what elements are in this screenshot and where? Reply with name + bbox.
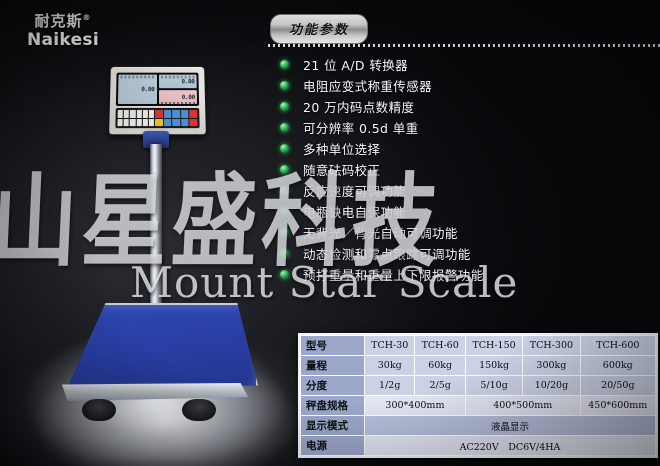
keypad-key-red[interactable] [190, 110, 198, 118]
trademark-symbol: ® [82, 13, 91, 22]
list-item: 反应速度可调功能 [280, 180, 660, 201]
lcd-value-total-price: 0.00 [182, 94, 195, 101]
keypad-key[interactable] [136, 119, 141, 127]
row-label-division: 分度 [301, 376, 365, 396]
lcd-value-weight: 0.00 [141, 86, 154, 93]
cell-model-2: TCH-60 [415, 336, 465, 356]
bullet-dot-icon [280, 228, 289, 237]
keypad-key-red[interactable] [190, 119, 198, 127]
indicator-display-panel: 0.00 0.00 0.00 [116, 73, 199, 106]
keypad-key[interactable] [149, 119, 154, 127]
feature-label: 多种单位选择 [303, 139, 380, 158]
platform-foot-left [82, 399, 116, 421]
feature-label: 21 位 A/D 转换器 [303, 55, 408, 74]
cell-capacity-4: 300kg [523, 356, 580, 376]
row-label-display-mode: 显示模式 [301, 416, 365, 436]
scale-product-image: 0.00 0.00 0.00 [0, 0, 300, 466]
brand-name-en: Naikesi [27, 32, 99, 49]
bullet-dot-icon [280, 165, 289, 174]
lcd-window-unit-price: 0.00 [158, 75, 196, 89]
cell-capacity-2: 60kg [415, 356, 465, 376]
row-label-capacity: 量程 [301, 356, 365, 376]
cell-division-4: 10/20g [523, 376, 580, 396]
bullet-dot-icon [280, 102, 289, 111]
lcd-window-weight: 0.00 [118, 75, 157, 104]
list-item: 无背光／背光自动可调功能 [280, 222, 660, 243]
keypad-key-blue[interactable] [181, 119, 189, 127]
keypad-key[interactable] [117, 119, 122, 127]
indicator-keypad[interactable] [115, 108, 199, 128]
keypad-key-blue[interactable] [181, 110, 189, 118]
cell-model-4: TCH-300 [523, 336, 580, 356]
keypad-key[interactable] [136, 110, 141, 118]
feature-label: 反应速度可调功能 [303, 181, 406, 200]
feature-label: 电阻应变式称重传感器 [303, 76, 432, 95]
bullet-dot-icon [280, 270, 289, 279]
cell-division-1: 1/2g [365, 376, 415, 396]
brand-name-cn-text: 耐克斯 [34, 12, 82, 30]
keypad-key-blue[interactable] [172, 110, 180, 118]
platform-foot-right [182, 399, 216, 421]
feature-label: 动态检测和零点跟踪可调功能 [303, 244, 471, 263]
cell-display-mode: 液晶显示 [365, 416, 656, 436]
row-label-power: 电源 [301, 436, 365, 456]
brand-logo: 耐克斯® Naikesi [27, 14, 99, 49]
table-row: 秤盘规格 300*400mm 400*500mm 450*600mm [301, 396, 656, 416]
lcd-tick-marks [120, 76, 154, 79]
bullet-dot-icon [280, 207, 289, 216]
list-item: 电瓶缺电自保功能 [280, 201, 660, 222]
keypad-key[interactable] [130, 110, 135, 118]
lcd-value-unit-price: 0.00 [181, 78, 194, 85]
keypad-key[interactable] [124, 119, 129, 127]
lcd-column-right: 0.00 0.00 [158, 75, 197, 104]
list-item: 21 位 A/D 转换器 [280, 54, 660, 75]
cell-model-3: TCH-150 [465, 336, 522, 356]
list-item: 20 万内码点数精度 [280, 96, 660, 117]
bullet-dot-icon [280, 186, 289, 195]
keypad-key[interactable] [143, 110, 148, 118]
feature-label: 20 万内码点数精度 [303, 97, 414, 116]
keypad-key-blue[interactable] [164, 110, 172, 118]
keypad-key-red[interactable] [155, 110, 163, 118]
row-label-pan-size: 秤盘规格 [301, 396, 365, 416]
scale-indicator-head: 0.00 0.00 0.00 [109, 67, 206, 134]
keypad-key-yellow[interactable] [155, 119, 163, 127]
keypad-key-blue[interactable] [164, 119, 172, 127]
list-item: 可分辨率 0.5d 单重 [280, 117, 660, 138]
bullet-dot-icon [280, 249, 289, 258]
keypad-key-blue[interactable] [173, 119, 181, 127]
keypad-key[interactable] [130, 119, 135, 127]
keypad-key[interactable] [118, 110, 123, 118]
bullet-dot-icon [280, 81, 289, 90]
platform-side-edge [62, 383, 248, 401]
scale-support-pole [150, 144, 162, 312]
cell-division-5: 20/50g [580, 376, 655, 396]
cell-pan-size-1: 300*400mm [365, 396, 466, 416]
lcd-tick-marks [160, 76, 194, 79]
specification-table: 型号 TCH-30 TCH-60 TCH-150 TCH-300 TCH-600… [300, 335, 656, 456]
bullet-dot-icon [280, 123, 289, 132]
table-row: 量程 30kg 60kg 150kg 300kg 600kg [301, 356, 656, 376]
feature-label: 随意砝码校正 [303, 160, 380, 179]
list-item: 预打重量和重量上下限报警功能 [280, 264, 660, 285]
lcd-window-total-price: 0.00 [158, 90, 197, 104]
table-row: 显示模式 液晶显示 [301, 416, 656, 436]
brand-name-cn: 耐克斯® [27, 14, 99, 29]
specification-panel: 功能参数 21 位 A/D 转换器 电阻应变式称重传感器 20 万内码点数精度 … [268, 0, 660, 466]
list-item: 电阻应变式称重传感器 [280, 75, 660, 96]
section-title-badge: 功能参数 [270, 14, 368, 44]
cell-division-3: 5/10g [465, 376, 522, 396]
dotted-divider [268, 44, 660, 47]
list-item: 动态检测和零点跟踪可调功能 [280, 243, 660, 264]
cell-pan-size-2: 400*500mm [465, 396, 580, 416]
table-row: 型号 TCH-30 TCH-60 TCH-150 TCH-300 TCH-600 [301, 336, 656, 356]
table-row: 分度 1/2g 2/5g 5/10g 10/20g 20/50g [301, 376, 656, 396]
feature-list: 21 位 A/D 转换器 电阻应变式称重传感器 20 万内码点数精度 可分辨率 … [280, 54, 660, 285]
cell-division-2: 2/5g [415, 376, 465, 396]
bullet-dot-icon [280, 60, 289, 69]
cell-power: AC220V DC6V/4HA [365, 436, 656, 456]
keypad-key[interactable] [149, 110, 154, 118]
lcd-segment-bar [161, 102, 196, 104]
feature-label: 预打重量和重量上下限报警功能 [303, 265, 484, 284]
product-poster: 耐克斯® Naikesi 0.00 0.00 0.00 [0, 0, 660, 466]
feature-label: 无背光／背光自动可调功能 [303, 223, 458, 242]
platform-top-plate [52, 303, 258, 389]
list-item: 多种单位选择 [280, 138, 660, 159]
keypad-key[interactable] [124, 110, 129, 118]
table-row: 电源 AC220V DC6V/4HA [301, 436, 656, 456]
feature-label: 电瓶缺电自保功能 [303, 202, 406, 221]
specification-table-container: 型号 TCH-30 TCH-60 TCH-150 TCH-300 TCH-600… [298, 333, 658, 458]
keypad-function-block[interactable] [155, 110, 197, 126]
keypad-key[interactable] [143, 119, 148, 127]
cell-pan-size-3: 450*600mm [580, 396, 655, 416]
cell-capacity-3: 150kg [465, 356, 522, 376]
bullet-dot-icon [280, 144, 289, 153]
row-label-model: 型号 [301, 336, 365, 356]
cell-capacity-5: 600kg [580, 356, 655, 376]
cell-capacity-1: 30kg [365, 356, 415, 376]
keypad-number-block[interactable] [117, 110, 154, 126]
feature-label: 可分辨率 0.5d 单重 [303, 118, 419, 137]
cell-model-5: TCH-600 [580, 336, 655, 356]
list-item: 随意砝码校正 [280, 159, 660, 180]
lcd-column-left: 0.00 [118, 75, 157, 104]
cell-model-1: TCH-30 [365, 336, 415, 356]
weighing-platform [52, 303, 258, 423]
